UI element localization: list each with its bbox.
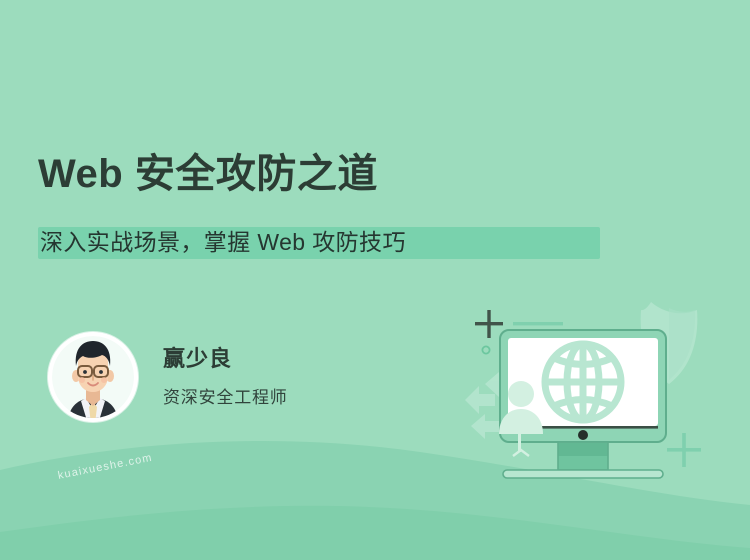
author-block: 赢少良 资深安全工程师	[48, 332, 288, 422]
author-text-block: 赢少良 资深安全工程师	[163, 344, 288, 410]
plus-mark-light-icon	[667, 433, 701, 467]
page-title: Web 安全攻防之道	[38, 148, 378, 200]
subtitle-block: 深入实战场景，掌握 Web 攻防技巧	[38, 227, 600, 259]
author-role: 资深安全工程师	[163, 386, 288, 410]
course-cover-slide: kuaixueshe.com Web 安全攻防之道 深入实战场景，掌握 Web …	[0, 0, 750, 560]
web-security-illustration	[455, 288, 750, 498]
small-circle-icon	[482, 346, 489, 353]
dash-line-icon	[513, 322, 563, 325]
avatar	[48, 332, 138, 422]
plus-mark-icon	[475, 310, 503, 338]
person-avatar-icon	[48, 332, 138, 422]
author-name: 赢少良	[163, 344, 288, 374]
page-subtitle: 深入实战场景，掌握 Web 攻防技巧	[40, 225, 406, 259]
globe-icon	[545, 344, 621, 420]
